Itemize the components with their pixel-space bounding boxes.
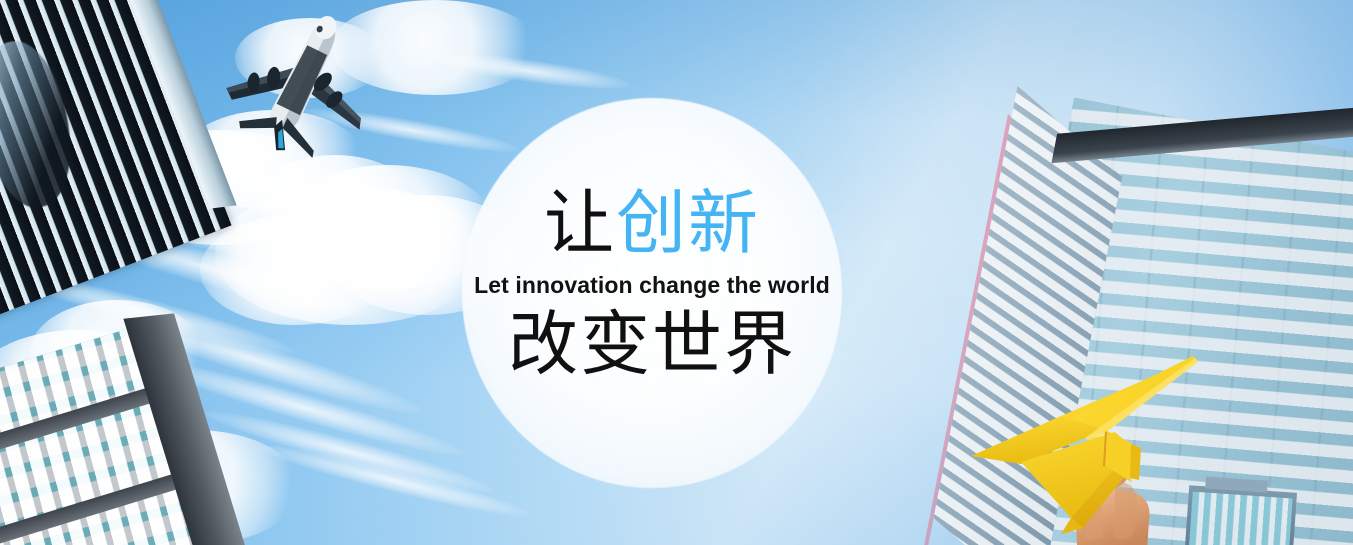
airplane-icon <box>220 1 390 164</box>
headline-chinese-top-black: 让 <box>544 182 616 264</box>
paper-airplane <box>971 356 1198 534</box>
headline-english-tagline: Let innovation change the world <box>452 270 852 300</box>
headline-block: 让创新 Let innovation change the world 改变世界 <box>452 185 852 382</box>
hero-banner: 让创新 Let innovation change the world 改变世界 <box>0 0 1353 545</box>
paper-plane-and-hand <box>965 352 1210 545</box>
headline-chinese-bottom: 改变世界 <box>452 306 852 382</box>
headline-chinese-top-accent: 创新 <box>616 182 760 264</box>
headline-chinese-top: 让创新 <box>452 185 852 261</box>
